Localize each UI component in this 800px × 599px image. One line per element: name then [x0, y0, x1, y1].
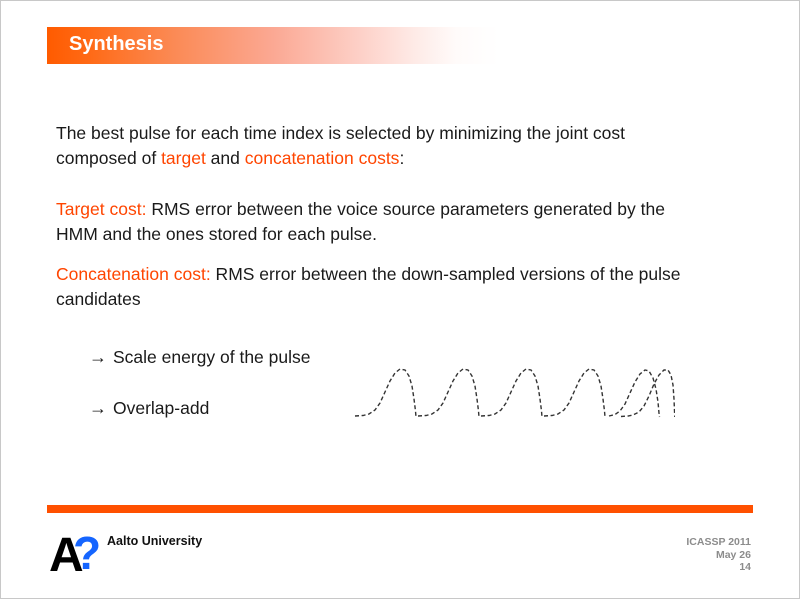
bullet-scale-energy: →Scale energy of the pulse [89, 345, 311, 369]
pulse-1 [355, 369, 416, 417]
paragraph-intro-highlight-target: target [161, 148, 206, 168]
bullet-scale-energy-label: Scale energy of the pulse [113, 347, 311, 367]
paragraph-intro-run-3: and [206, 148, 245, 168]
target-cost-text: RMS error between the voice source param… [56, 199, 665, 244]
bullet-overlap-add-label: Overlap-add [113, 398, 209, 418]
concatenation-cost-label: Concatenation cost: [56, 264, 211, 284]
paragraph-intro-run-5: : [399, 148, 404, 168]
paragraph-target-cost: Target cost: RMS error between the voice… [56, 197, 696, 247]
pulse-2 [418, 369, 479, 417]
footer-date: May 26 [686, 549, 751, 562]
footer-meta: ICASSP 2011 May 26 14 [686, 536, 751, 574]
pulse-3 [481, 369, 542, 417]
aalto-logo-icon: A ? [49, 529, 101, 575]
page-title: Synthesis [69, 33, 163, 56]
organization-name: Aalto University [107, 534, 202, 548]
bullet-overlap-add: →Overlap-add [89, 396, 209, 420]
arrow-right-icon: → [89, 345, 113, 369]
paragraph-concatenation-cost: Concatenation cost: RMS error between th… [56, 262, 696, 312]
paragraph-intro: The best pulse for each time index is se… [56, 121, 696, 171]
pulse-4 [544, 369, 605, 417]
footer-divider [47, 505, 753, 513]
slide-title-bar: Synthesis [47, 27, 753, 64]
pulse-6 [621, 370, 675, 417]
footer-conference: ICASSP 2011 [686, 536, 751, 549]
footer-page-number: 14 [686, 561, 751, 574]
paragraph-intro-highlight-concatenation: concatenation costs [245, 148, 400, 168]
slide-canvas: Synthesis The best pulse for each time i… [0, 0, 800, 599]
aalto-logo-question-mark: ? [73, 529, 101, 575]
pulse-5 [609, 370, 660, 417]
glottal-pulse-train-figure [353, 359, 675, 421]
target-cost-label: Target cost: [56, 199, 146, 219]
arrow-right-icon: → [89, 396, 113, 420]
